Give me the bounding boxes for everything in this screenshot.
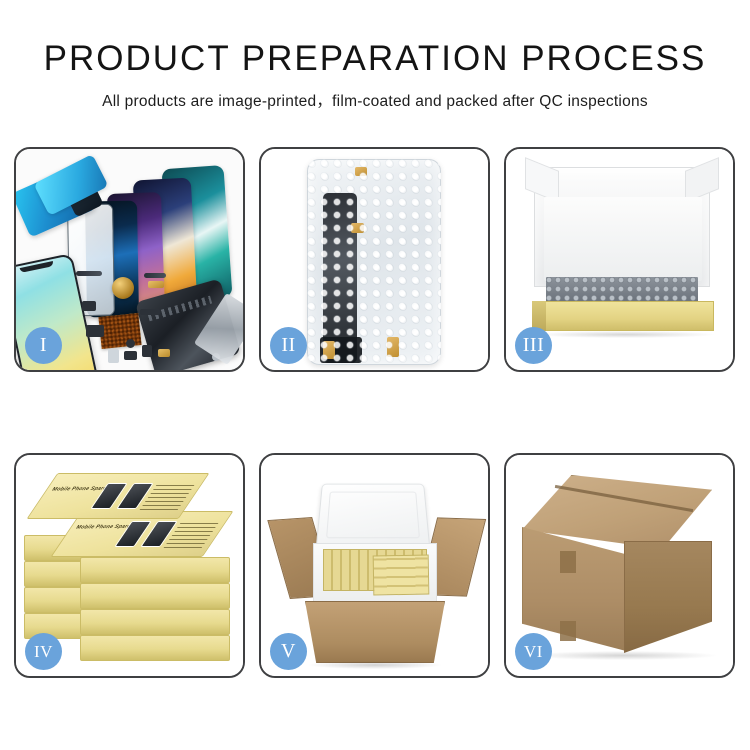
page-subtitle: All products are image-printed，film-coat…: [0, 89, 750, 111]
box-shadow: [536, 331, 714, 338]
small-part-7: [142, 345, 152, 357]
product-preparation-infographic: PRODUCT PREPARATION PROCESS All products…: [0, 0, 750, 750]
tape-piece-2: [351, 223, 364, 233]
circuit-board-part: [98, 313, 141, 349]
flex-cable-1: [76, 271, 102, 276]
photo-carton-with-styrofoam-liner: V: [261, 455, 488, 676]
stacked-box-side-7: [80, 583, 230, 609]
carton-tape-flap-bottom: [560, 621, 576, 641]
small-part-2: [86, 325, 104, 337]
photo-bubble-wrapped-item: II: [261, 149, 488, 370]
photo-phone-screens-and-parts: I: [16, 149, 243, 370]
packed-yellow-boxes-row-2: [373, 555, 430, 596]
stacked-box-lid-back: Mobile Phone Spare Parts: [26, 473, 209, 519]
small-part-3: [140, 309, 160, 315]
step-badge-4: IV: [25, 633, 62, 670]
wrapped-product: [323, 193, 357, 363]
stacked-box-side-6: [80, 609, 230, 635]
step-badge-6: VI: [515, 633, 552, 670]
flex-cable-2: [144, 273, 166, 278]
tape-piece-1: [355, 167, 367, 176]
white-foam-sheet: [544, 197, 702, 281]
gray-bubble-fill: [546, 277, 698, 303]
tape-piece-4: [387, 337, 399, 357]
styrofoam-lid: [316, 484, 431, 548]
small-part-6: [124, 351, 137, 360]
header: PRODUCT PREPARATION PROCESS All products…: [0, 0, 750, 111]
step-badge-1: I: [25, 327, 62, 364]
tape-piece-3: [323, 341, 335, 359]
step-badge-2: II: [270, 327, 307, 364]
step-badge-3: III: [515, 327, 552, 364]
carton-tape-flap-top: [560, 551, 576, 573]
process-step-card-4: Mobile Phone Spare Parts Mobile Phone Sp…: [14, 453, 245, 678]
step-badge-5: V: [270, 633, 307, 670]
small-part-1: [82, 301, 96, 311]
process-step-grid: I II II: [14, 147, 736, 678]
yellow-box-front-panel: [532, 301, 714, 331]
gold-bracket-1: [148, 281, 164, 288]
sealed-carton: [516, 475, 722, 661]
process-step-card-1: I: [14, 147, 245, 372]
process-step-card-5: V: [259, 453, 490, 678]
process-step-card-2: II: [259, 147, 490, 372]
small-part-5: [108, 349, 119, 363]
page-title: PRODUCT PREPARATION PROCESS: [0, 40, 750, 79]
process-step-card-3: III: [504, 147, 735, 372]
carton-shadow: [309, 661, 441, 669]
small-part-4: [126, 339, 135, 348]
stacked-box-side-8: [80, 557, 230, 583]
carton-body: [305, 601, 445, 663]
photo-open-yellow-box-with-foam: III: [506, 149, 733, 370]
vibration-motor-part: [112, 277, 134, 299]
carton-side-face: [624, 541, 712, 653]
photo-stacked-yellow-boxes: Mobile Phone Spare Parts Mobile Phone Sp…: [16, 455, 243, 676]
photo-sealed-shipping-carton: VI: [506, 455, 733, 676]
process-step-card-6: VI: [504, 453, 735, 678]
gold-bracket-2: [158, 349, 170, 357]
stacked-box-side-5: [80, 635, 230, 661]
carton-shadow: [530, 651, 716, 660]
